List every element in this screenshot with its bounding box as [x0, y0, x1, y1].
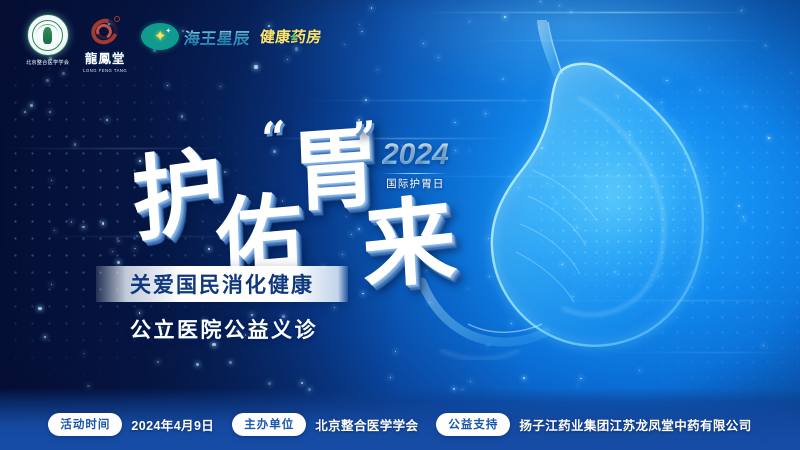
info-label-event-time: 活动时间 [48, 413, 122, 436]
subtitle-banner: 关爱国民消化健康 [96, 266, 348, 302]
year-divider [382, 173, 448, 174]
info-label-charity-support: 公益支持 [436, 413, 510, 436]
info-value-event-time: 2024年4月9日 [131, 415, 214, 434]
campaign-banner: 北京整合医学学会 龍鳳堂 LONG FENG TANG ✦ ✦ 海王星辰 健康药… [0, 0, 800, 450]
title-char-hu: 护 [129, 146, 226, 246]
info-item-charity-support: 公益支持 扬子江药业集团江苏龙凤堂中药有限公司 [436, 413, 751, 436]
title-quote-close: ” [350, 117, 380, 161]
info-item-organizer: 主办单位 北京整合医学学会 [232, 413, 418, 436]
title-zone: 护 “ 胃 ” 佑 来 2024 国际护胃日 关爱国民消化健康 公立医院公益义诊 [0, 0, 520, 450]
year-badge: 2024 国际护胃日 [382, 138, 449, 191]
event-name: 国际护胃日 [382, 176, 449, 191]
subtitle-banner-text: 关爱国民消化健康 [130, 269, 314, 299]
info-value-organizer: 北京整合医学学会 [315, 415, 418, 434]
info-bar: 活动时间 2024年4月9日 主办单位 北京整合医学学会 公益支持 扬子江药业集… [0, 388, 800, 450]
subtitle-second-line: 公立医院公益义诊 [130, 314, 318, 344]
info-value-charity-support: 扬子江药业集团江苏龙凤堂中药有限公司 [519, 415, 751, 434]
title-char-lai: 来 [360, 195, 458, 294]
title-quote-open: “ [260, 117, 290, 161]
year-value: 2024 [382, 138, 449, 172]
info-label-organizer: 主办单位 [232, 413, 306, 436]
info-item-event-time: 活动时间 2024年4月9日 [48, 413, 214, 436]
